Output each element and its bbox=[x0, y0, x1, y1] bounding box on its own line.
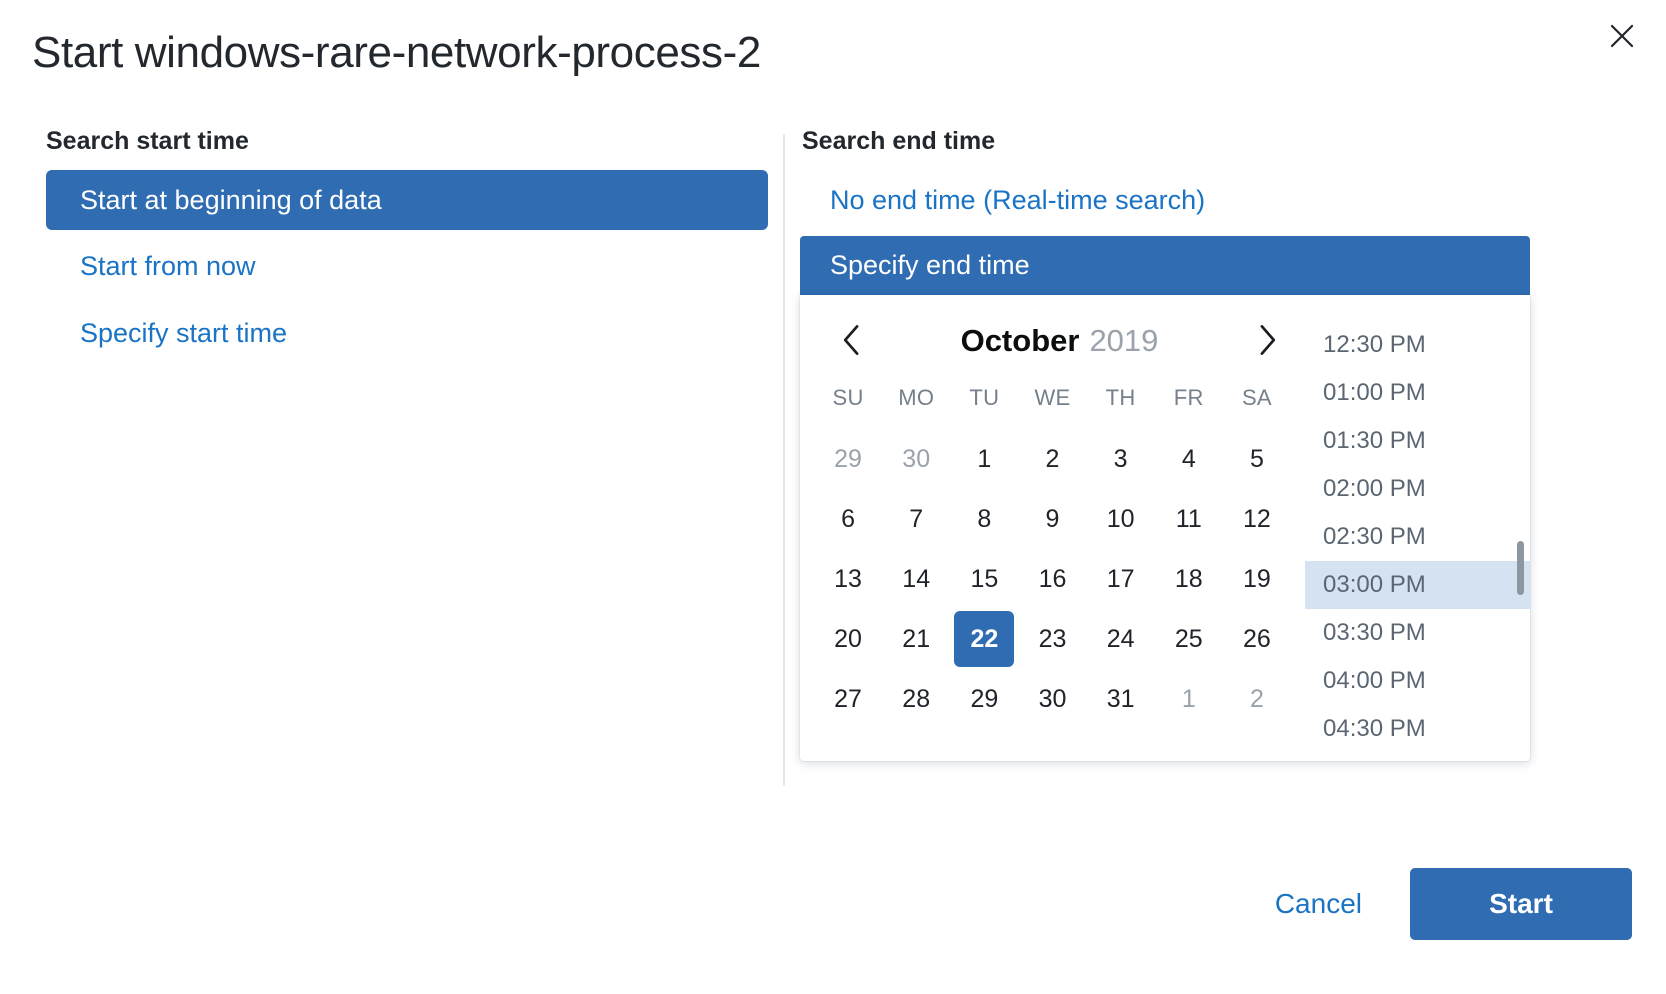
calendar-day[interactable]: 12 bbox=[1223, 489, 1291, 549]
calendar-day[interactable]: 21 bbox=[882, 609, 950, 669]
calendar-day-label: 30 bbox=[1022, 671, 1082, 727]
datetime-picker-body: October2019 SU MO TU bbox=[800, 295, 1530, 761]
calendar-day[interactable]: 2 bbox=[1018, 429, 1086, 489]
end-time-picker: Specify end time October2019 bbox=[800, 236, 1530, 761]
calendar-day-label: 6 bbox=[818, 491, 878, 547]
search-start-time-label: Search start time bbox=[46, 126, 768, 156]
calendar-day[interactable]: 7 bbox=[882, 489, 950, 549]
calendar-day-label: 1 bbox=[954, 431, 1014, 487]
calendar-day[interactable]: 29 bbox=[814, 429, 882, 489]
calendar-day-label: 14 bbox=[886, 551, 946, 607]
calendar: October2019 SU MO TU bbox=[800, 295, 1305, 761]
calendar-day-label: 28 bbox=[886, 671, 946, 727]
calendar-day[interactable]: 26 bbox=[1223, 609, 1291, 669]
calendar-month-year: October2019 bbox=[874, 325, 1245, 356]
calendar-day-label: 15 bbox=[954, 551, 1014, 607]
chevron-right-icon[interactable] bbox=[1245, 318, 1289, 362]
calendar-grid: SU MO TU WE TH FR SA bbox=[800, 371, 1305, 429]
calendar-day-label: 31 bbox=[1091, 671, 1151, 727]
calendar-day-label: 29 bbox=[818, 431, 878, 487]
calendar-day[interactable]: 30 bbox=[882, 429, 950, 489]
time-option[interactable]: 01:30 PM bbox=[1305, 417, 1530, 465]
calendar-day[interactable]: 8 bbox=[950, 489, 1018, 549]
time-list-scrollbar[interactable] bbox=[1517, 541, 1524, 595]
end-option-no-end-time[interactable]: No end time (Real-time search) bbox=[800, 170, 1530, 230]
calendar-day[interactable]: 17 bbox=[1087, 549, 1155, 609]
time-option[interactable]: 02:00 PM bbox=[1305, 465, 1530, 513]
chevron-left-icon[interactable] bbox=[830, 318, 874, 362]
calendar-day-label: 16 bbox=[1022, 551, 1082, 607]
calendar-day[interactable]: 14 bbox=[882, 549, 950, 609]
time-option[interactable]: 04:30 PM bbox=[1305, 705, 1530, 753]
dialog-footer: Cancel Start bbox=[0, 838, 1666, 994]
dialog-header: Start windows-rare-network-process-2 bbox=[0, 0, 1666, 118]
calendar-day-label: 22 bbox=[954, 611, 1014, 667]
calendar-weekday: FR bbox=[1155, 371, 1223, 429]
calendar-day-label: 8 bbox=[954, 491, 1014, 547]
calendar-day[interactable]: 19 bbox=[1223, 549, 1291, 609]
calendar-day[interactable]: 9 bbox=[1018, 489, 1086, 549]
calendar-weekday: TH bbox=[1087, 371, 1155, 429]
calendar-day-label: 3 bbox=[1091, 431, 1151, 487]
calendar-day[interactable]: 15 bbox=[950, 549, 1018, 609]
calendar-day[interactable]: 28 bbox=[882, 669, 950, 729]
search-end-time-label: Search end time bbox=[802, 126, 1530, 156]
calendar-day-label: 19 bbox=[1227, 551, 1287, 607]
calendar-weekday: WE bbox=[1018, 371, 1086, 429]
calendar-day[interactable]: 13 bbox=[814, 549, 882, 609]
calendar-day-label: 21 bbox=[886, 611, 946, 667]
calendar-day-label: 7 bbox=[886, 491, 946, 547]
search-end-time-panel: Search end time No end time (Real-time s… bbox=[800, 126, 1530, 761]
time-option[interactable]: 04:00 PM bbox=[1305, 657, 1530, 705]
calendar-day-label: 10 bbox=[1091, 491, 1151, 547]
calendar-nav: October2019 bbox=[800, 309, 1305, 371]
calendar-day[interactable]: 10 bbox=[1087, 489, 1155, 549]
dialog-body: Search start time Start at beginning of … bbox=[0, 126, 1666, 816]
calendar-day-label: 2 bbox=[1227, 671, 1287, 727]
calendar-day-label: 27 bbox=[818, 671, 878, 727]
calendar-day-label: 2 bbox=[1022, 431, 1082, 487]
calendar-day-label: 1 bbox=[1159, 671, 1219, 727]
calendar-days: 2930123456789101112131415161718192021222… bbox=[800, 429, 1305, 729]
calendar-day-label: 17 bbox=[1091, 551, 1151, 607]
calendar-day[interactable]: 3 bbox=[1087, 429, 1155, 489]
start-button[interactable]: Start bbox=[1410, 868, 1632, 940]
calendar-day[interactable]: 24 bbox=[1087, 609, 1155, 669]
end-option-specify-end-time[interactable]: Specify end time bbox=[800, 236, 1530, 295]
calendar-weekday: TU bbox=[950, 371, 1018, 429]
calendar-year: 2019 bbox=[1089, 323, 1158, 358]
time-option-selected[interactable]: 03:00 PM bbox=[1305, 561, 1530, 609]
calendar-day-label: 25 bbox=[1159, 611, 1219, 667]
time-option[interactable]: 01:00 PM bbox=[1305, 369, 1530, 417]
calendar-day[interactable]: 16 bbox=[1018, 549, 1086, 609]
start-search-dialog: Start windows-rare-network-process-2 Sea… bbox=[0, 0, 1666, 994]
calendar-day-label: 18 bbox=[1159, 551, 1219, 607]
time-option[interactable]: 02:30 PM bbox=[1305, 513, 1530, 561]
calendar-day[interactable]: 29 bbox=[950, 669, 1018, 729]
calendar-day-label: 23 bbox=[1022, 611, 1082, 667]
calendar-day[interactable]: 6 bbox=[814, 489, 882, 549]
calendar-day-label: 13 bbox=[818, 551, 878, 607]
calendar-day[interactable]: 31 bbox=[1087, 669, 1155, 729]
calendar-day[interactable]: 30 bbox=[1018, 669, 1086, 729]
calendar-weekday: MO bbox=[882, 371, 950, 429]
calendar-day-label: 20 bbox=[818, 611, 878, 667]
column-divider bbox=[783, 134, 785, 786]
calendar-day-label: 11 bbox=[1159, 491, 1219, 547]
calendar-day[interactable]: 1 bbox=[1155, 669, 1223, 729]
calendar-day-label: 12 bbox=[1227, 491, 1287, 547]
page-title: Start windows-rare-network-process-2 bbox=[32, 28, 761, 78]
calendar-day-label: 9 bbox=[1022, 491, 1082, 547]
calendar-day[interactable]: 27 bbox=[814, 669, 882, 729]
calendar-day[interactable]: 4 bbox=[1155, 429, 1223, 489]
start-option-specify-start-time[interactable]: Specify start time bbox=[46, 303, 768, 363]
close-icon[interactable] bbox=[1600, 14, 1644, 58]
search-start-time-panel: Search start time Start at beginning of … bbox=[46, 126, 768, 369]
calendar-weekday: SA bbox=[1223, 371, 1291, 429]
calendar-day-label: 30 bbox=[886, 431, 946, 487]
calendar-weekday: SU bbox=[814, 371, 882, 429]
time-list[interactable]: 12:30 PM01:00 PM01:30 PM02:00 PM02:30 PM… bbox=[1305, 295, 1530, 761]
calendar-day-label: 24 bbox=[1091, 611, 1151, 667]
start-option-from-now[interactable]: Start from now bbox=[46, 236, 768, 296]
calendar-day-label: 5 bbox=[1227, 431, 1287, 487]
calendar-day-selected[interactable]: 22 bbox=[950, 609, 1018, 669]
calendar-day[interactable]: 20 bbox=[814, 609, 882, 669]
calendar-day[interactable]: 18 bbox=[1155, 549, 1223, 609]
time-option[interactable]: 12:30 PM bbox=[1305, 321, 1530, 369]
calendar-day[interactable]: 25 bbox=[1155, 609, 1223, 669]
cancel-button[interactable]: Cancel bbox=[1247, 872, 1390, 936]
time-option[interactable]: 03:30 PM bbox=[1305, 609, 1530, 657]
calendar-day[interactable]: 5 bbox=[1223, 429, 1291, 489]
calendar-day-label: 4 bbox=[1159, 431, 1219, 487]
calendar-day[interactable]: 2 bbox=[1223, 669, 1291, 729]
calendar-day[interactable]: 1 bbox=[950, 429, 1018, 489]
calendar-month: October bbox=[961, 323, 1080, 358]
footer-actions: Cancel Start bbox=[1247, 868, 1632, 940]
calendar-day-label: 29 bbox=[954, 671, 1014, 727]
time-option[interactable]: 05:00 PM bbox=[1305, 753, 1530, 761]
calendar-day[interactable]: 23 bbox=[1018, 609, 1086, 669]
start-option-beginning-of-data[interactable]: Start at beginning of data bbox=[46, 170, 768, 230]
calendar-day[interactable]: 11 bbox=[1155, 489, 1223, 549]
calendar-day-label: 26 bbox=[1227, 611, 1287, 667]
